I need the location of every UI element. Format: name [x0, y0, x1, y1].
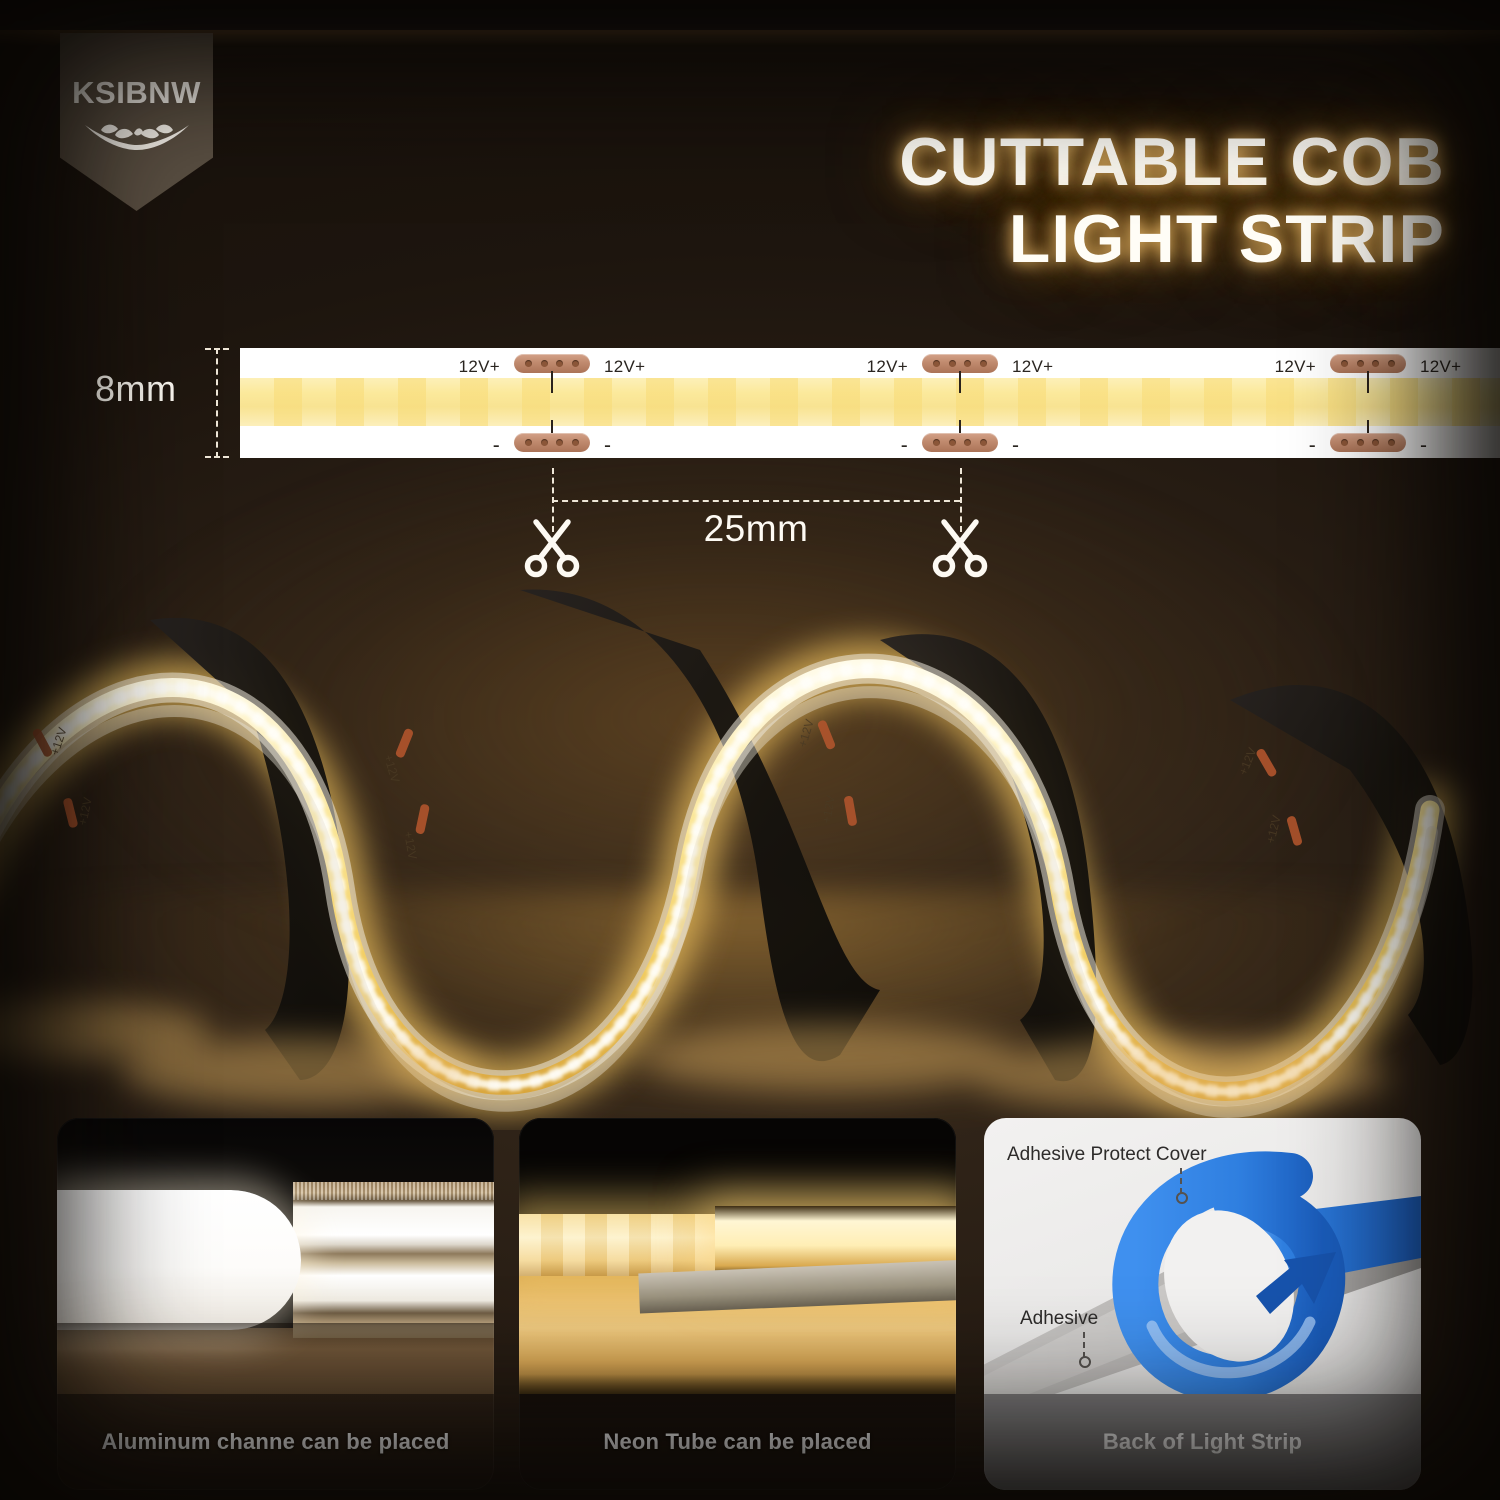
pad-label-negative-right: - — [604, 434, 611, 458]
pad-label-negative-right: - — [1420, 434, 1427, 458]
channel-diffuser-cover — [57, 1190, 301, 1330]
led-strip-cross-section: 12V+ 12V+ - - 12V+ 12V+ - - — [240, 348, 1500, 458]
pad-label-negative-left: - — [901, 434, 908, 458]
cut-line-marker — [551, 371, 553, 393]
panel-caption: Neon Tube can be placed — [519, 1394, 956, 1490]
dimension-diagram: 8mm 12V+ 12V+ - - — [0, 0, 1500, 600]
callout-label-adhesive: Adhesive — [1020, 1308, 1098, 1330]
panel-photo-dark-sky — [519, 1118, 956, 1214]
aluminum-channel-profile — [293, 1182, 494, 1338]
pad-label-negative-left: - — [1309, 434, 1316, 458]
strip-marking: +12V — [381, 753, 402, 784]
panel-photo-dark-sky — [57, 1118, 494, 1190]
callout-leader-line — [1083, 1332, 1085, 1358]
callout-label-adhesive-cover: Adhesive Protect Cover — [1007, 1144, 1207, 1166]
strip-marking: +12V — [401, 830, 420, 860]
pad-label-negative-left: - — [493, 434, 500, 458]
feature-panels: Aluminum channe can be placed Neon Tube … — [0, 1118, 1500, 1500]
pad-label-negative-right: - — [1012, 434, 1019, 458]
pad-label-positive-left: 12V+ — [867, 357, 908, 377]
product-photo-serpentine-strip: +12V +12V +12V +12V +12V +12V +12V +12V — [0, 560, 1500, 1130]
callout-leader-line — [1180, 1168, 1182, 1194]
callout-endpoint-dot — [1176, 1192, 1188, 1204]
panel-aluminum-channel[interactable]: Aluminum channe can be placed — [57, 1118, 494, 1490]
pad-label-positive-right: 12V+ — [1012, 357, 1053, 377]
cut-line-marker — [1367, 371, 1369, 393]
panel-photo-shadow — [57, 1323, 494, 1349]
solder-pad-negative — [1330, 433, 1406, 452]
panel-caption: Back of Light Strip — [984, 1394, 1421, 1490]
solder-pad-negative — [514, 433, 590, 452]
panel-caption: Aluminum channe can be placed — [57, 1394, 494, 1490]
pad-label-positive-right: 12V+ — [1420, 357, 1461, 377]
strip-marking: +12V — [75, 796, 95, 827]
callout-endpoint-dot — [1079, 1356, 1091, 1368]
strip-marking: +12V — [1263, 814, 1283, 845]
pad-label-positive-left: 12V+ — [459, 357, 500, 377]
panel-neon-tube[interactable]: Neon Tube can be placed — [519, 1118, 956, 1490]
cob-light-band — [240, 378, 1500, 426]
panel-back-of-light-strip[interactable]: Adhesive Protect Cover Adhesive Back of … — [984, 1118, 1421, 1490]
strip-marking: +12V — [1236, 746, 1260, 778]
width-dimension-bracket — [205, 348, 229, 458]
solder-pad-negative — [922, 433, 998, 452]
strip-marking: +12V — [819, 794, 838, 824]
led-strip-illustration: +12V +12V +12V +12V +12V +12V +12V +12V — [0, 560, 1500, 1130]
pad-label-positive-right: 12V+ — [604, 357, 645, 377]
cut-line-marker — [959, 371, 961, 393]
cut-interval-label: 25mm — [552, 508, 960, 550]
strip-marking: +12V — [795, 718, 816, 749]
product-infographic: KSIBNW CUTTABLE COB LIGHT STRIP 8mm — [0, 0, 1500, 1500]
panel-photo-shadow — [519, 1374, 956, 1394]
width-dimension-label: 8mm — [95, 368, 177, 410]
pad-label-positive-left: 12V+ — [1275, 357, 1316, 377]
